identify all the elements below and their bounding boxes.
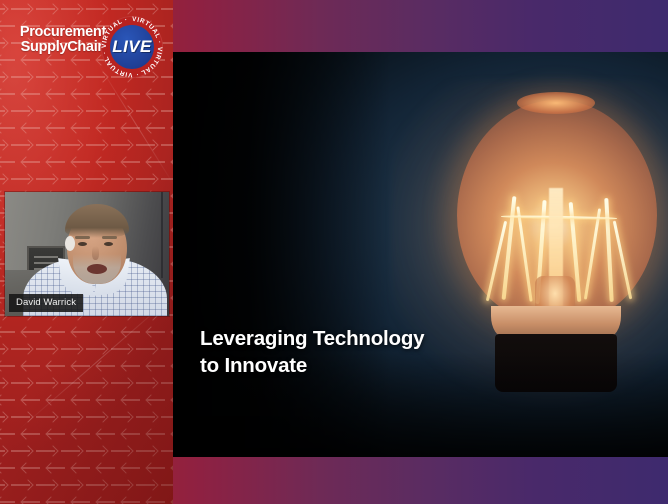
presentation-slide[interactable]: Leveraging Technology to Innovate	[173, 52, 668, 457]
speaker-brow-right	[102, 236, 117, 239]
branding-panel: Procurement SupplyChain VIRTUAL · VIRTUA…	[0, 0, 173, 504]
slide-title: Leveraging Technology to Innovate	[200, 325, 424, 379]
slide-title-line-1: Leveraging Technology	[200, 325, 424, 352]
speaker-nose	[92, 246, 99, 260]
wordmark-line-1: Procurement	[6, 25, 106, 40]
slide-title-line-2: to Innovate	[200, 352, 424, 379]
speaker-earbud-icon	[65, 236, 75, 251]
live-badge-icon: VIRTUAL · VIRTUAL · VIRTUAL · VIRTUAL · …	[101, 16, 163, 78]
brand-logo: Procurement SupplyChain VIRTUAL · VIRTUA…	[0, 9, 173, 71]
speaker-name-label: David Warrick	[9, 294, 83, 312]
badge-live-label: LIVE	[101, 16, 163, 78]
bulb-glass-tip	[517, 92, 595, 114]
brand-wordmark: Procurement SupplyChain	[6, 25, 106, 55]
speaker-eye-left	[78, 242, 87, 246]
video-wall-edge	[161, 192, 163, 278]
speaker-eye-right	[104, 242, 113, 246]
speaker-video-tile[interactable]: David Warrick	[5, 192, 169, 316]
speaker-brow-left	[75, 236, 90, 239]
broadcast-stage: Procurement SupplyChain VIRTUAL · VIRTUA…	[0, 0, 668, 504]
speaker-mouth	[87, 264, 107, 274]
wordmark-line-2: SupplyChain	[6, 40, 106, 55]
